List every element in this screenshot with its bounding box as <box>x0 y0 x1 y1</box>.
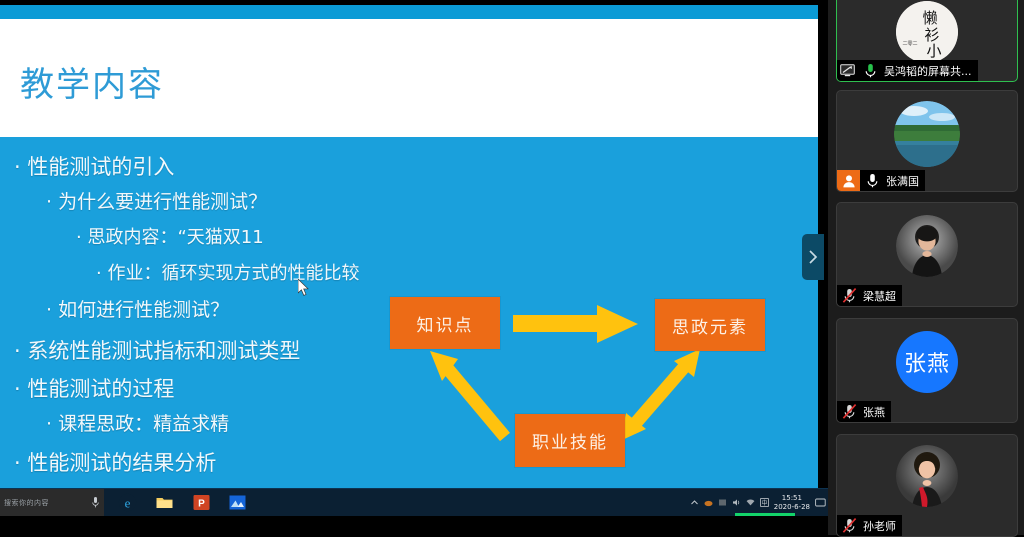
taskbar-icon-edge[interactable]: e <box>118 493 137 512</box>
participant-panel[interactable]: 懒 衫 小 二零二 <box>828 0 1024 535</box>
diagram-box-label: 职业技能 <box>532 428 608 453</box>
tray-network-icon[interactable] <box>746 498 755 507</box>
participant-tile[interactable]: 张满国 <box>836 90 1018 192</box>
shared-screen-region[interactable]: 教学内容 · 性能测试的引入 · 为什么要进行性能测试？ · 思政内容：“天猫双… <box>0 0 828 535</box>
mouse-cursor <box>298 279 310 297</box>
microphone-on-icon <box>861 61 880 80</box>
taskbar-icon-powerpoint[interactable]: P <box>192 493 211 512</box>
powerpoint-slide[interactable]: 教学内容 · 性能测试的引入 · 为什么要进行性能测试？ · 思政内容：“天猫双… <box>0 19 818 500</box>
participant-name: 张燕 <box>863 404 885 420</box>
bullet-item: · 性能测试的结果分析 <box>14 447 216 477</box>
participant-name-chip: 张满国 <box>837 170 925 191</box>
person-badge-icon <box>837 170 860 191</box>
bullet-item: · 性能测试的过程 <box>14 373 174 403</box>
participant-name: 孙老师 <box>863 518 896 534</box>
bullet-item: · 系统性能测试指标和测试类型 <box>14 335 300 365</box>
participant-name: 梁慧超 <box>863 288 896 304</box>
bullet-item: · 思政内容：“天猫双11 <box>76 223 264 249</box>
participant-name-chip: 梁慧超 <box>837 285 902 306</box>
tray-chevron-up-icon[interactable] <box>690 498 699 507</box>
screen-share-icon <box>837 60 858 81</box>
screen-top-blue-bar <box>0 5 818 19</box>
microphone-muted-icon <box>840 286 859 305</box>
diagram-box-label: 思政元素 <box>672 313 748 338</box>
slide-body: · 性能测试的引入 · 为什么要进行性能测试？ · 思政内容：“天猫双11 · … <box>0 137 818 500</box>
system-tray[interactable]: 中 15:51 2020-6-28 <box>690 489 826 516</box>
clock-time: 15:51 <box>774 494 810 503</box>
avatar <box>896 215 958 277</box>
svg-text:e: e <box>125 496 131 511</box>
arrow-knowledge-to-ideology <box>513 305 638 343</box>
microphone-muted-icon <box>840 516 859 535</box>
arrow-vocational-to-knowledge <box>430 351 505 437</box>
expand-panel-button[interactable] <box>802 234 824 280</box>
bullet-item: · 作业：循环实现方式的性能比较 <box>96 259 359 285</box>
tray-clock[interactable]: 15:51 2020-6-28 <box>774 494 810 512</box>
bullet-item: · 为什么要进行性能测试？ <box>46 187 267 214</box>
bullet-item: · 如何进行性能测试？ <box>46 295 229 322</box>
tray-app-icon[interactable] <box>718 498 727 507</box>
microphone-icon[interactable] <box>92 496 99 509</box>
microphone-muted-icon <box>840 402 859 421</box>
windows-taskbar[interactable]: 搜索你的内容 e P <box>0 488 828 516</box>
bullet-item: · 课程思政：精益求精 <box>46 409 229 436</box>
participant-name-chip: 孙老师 <box>837 515 902 536</box>
diagram-box-label: 知识点 <box>417 311 474 336</box>
participant-tile[interactable]: 孙老师 <box>836 434 1018 537</box>
diagram-box-knowledge: 知识点 <box>390 297 500 349</box>
screen-share-highlight-bar <box>735 513 795 516</box>
tray-volume-icon[interactable] <box>732 498 741 507</box>
diagram-box-ideology: 思政元素 <box>655 299 765 351</box>
slide-title: 教学内容 <box>20 57 164 106</box>
avatar <box>894 101 960 167</box>
chevron-right-icon <box>808 249 818 265</box>
svg-text:懒: 懒 <box>922 10 937 27</box>
avatar <box>896 445 958 507</box>
participant-tile[interactable]: 张燕 张燕 <box>836 318 1018 423</box>
clock-date: 2020-6-28 <box>774 503 810 512</box>
taskbar-search-box[interactable]: 搜索你的内容 <box>0 489 104 516</box>
tray-input-method-icon[interactable]: 中 <box>760 498 769 507</box>
participant-name: 吴鸿韬的屏幕共... <box>884 63 972 79</box>
microphone-on-icon <box>863 171 882 190</box>
diagram-box-vocational: 职业技能 <box>515 414 625 467</box>
participant-tile[interactable]: 懒 衫 小 二零二 <box>836 0 1018 82</box>
screen: 教学内容 · 性能测试的引入 · 为什么要进行性能测试？ · 思政内容：“天猫双… <box>0 0 1024 535</box>
avatar-initials: 张燕 <box>896 331 958 393</box>
participant-name-chip: 张燕 <box>837 401 891 422</box>
taskbar-icon-file-explorer[interactable] <box>155 493 174 512</box>
taskbar-search-placeholder: 搜索你的内容 <box>4 498 49 508</box>
taskbar-icon-photos[interactable] <box>228 493 247 512</box>
participant-name: 张满国 <box>886 173 919 189</box>
avatar-initials-text: 张燕 <box>904 346 950 378</box>
action-center-icon[interactable] <box>815 498 826 507</box>
svg-text:小: 小 <box>926 43 941 60</box>
svg-text:二零二: 二零二 <box>902 41 917 47</box>
arrow-vocational-to-ideology-double <box>620 349 700 441</box>
participant-name-chip: 吴鸿韬的屏幕共... <box>837 60 978 81</box>
svg-text:中: 中 <box>761 499 767 507</box>
svg-text:P: P <box>198 499 205 510</box>
bullet-item: · 性能测试的引入 <box>14 151 174 181</box>
tray-onedrive-icon[interactable] <box>704 498 713 507</box>
avatar: 懒 衫 小 二零二 <box>896 1 958 63</box>
participant-tile[interactable]: 梁慧超 <box>836 202 1018 307</box>
svg-text:衫: 衫 <box>924 27 939 44</box>
